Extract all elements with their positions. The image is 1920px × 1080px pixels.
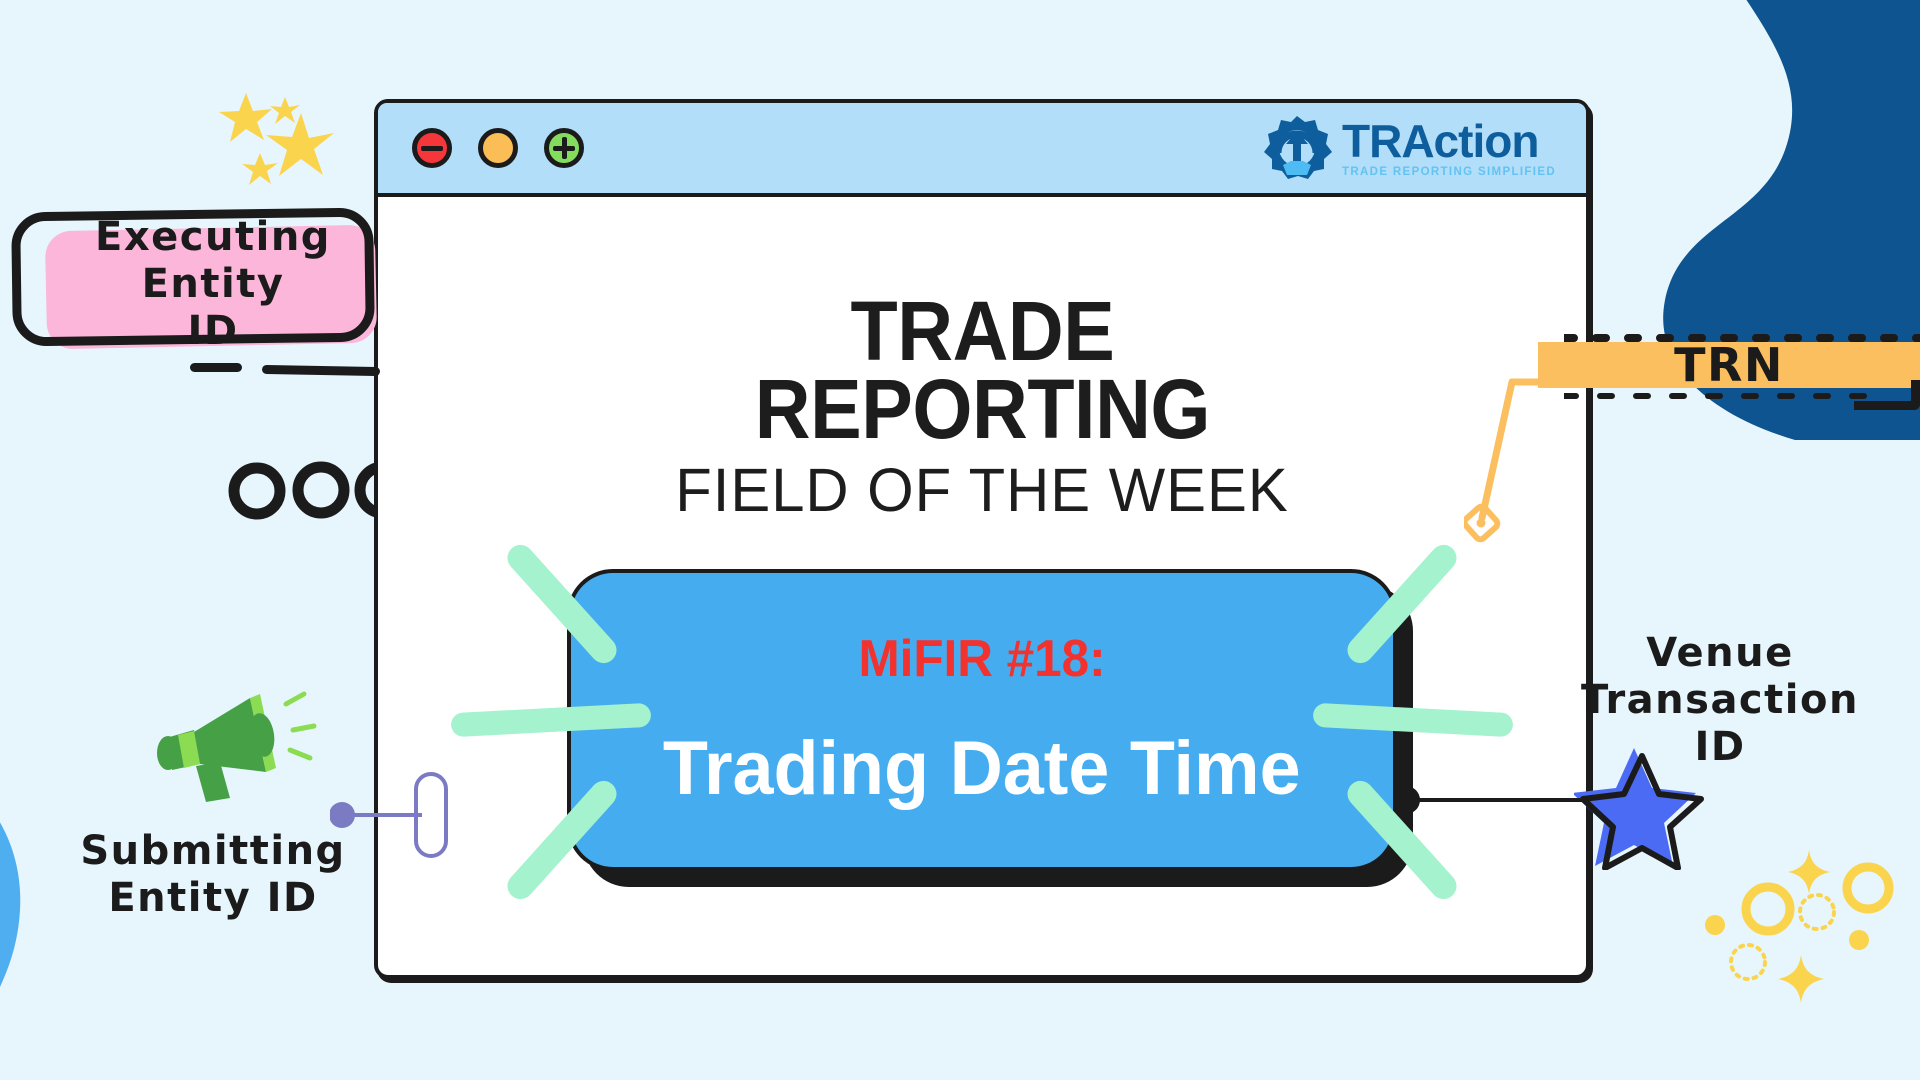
window-content: TRADE REPORTING FIELD OF THE WEEK MiFIR … [378, 197, 1586, 975]
page-title-line2: REPORTING [754, 370, 1209, 449]
featured-field-card-wrapper: MiFIR #18: Trading Date Time [567, 569, 1397, 871]
submitting-entity-id-label: Submitting Entity ID [28, 828, 398, 922]
card-title-label: Trading Date Time [663, 725, 1301, 812]
gear-upload-icon [1261, 115, 1333, 181]
sky-background-blob [0, 700, 400, 1080]
minimize-button[interactable] [412, 128, 452, 168]
pink-highlight-shape [45, 225, 377, 350]
annotation-submitting-entity-id: Submitting Entity ID [28, 680, 408, 960]
underline-dash-short [190, 363, 242, 372]
yellow-sparkles-decoration [1672, 847, 1912, 1022]
annotation-executing-entity-id: Executing Entity ID [0, 196, 400, 376]
megaphone-icon [138, 680, 318, 820]
expand-button[interactable] [544, 128, 584, 168]
maximize-button[interactable] [478, 128, 518, 168]
traffic-light-group [412, 128, 584, 168]
orange-band-shape [1538, 342, 1920, 388]
traction-logo: TRAction TRADE REPORTING SIMPLIFIED [1261, 115, 1556, 181]
window-titlebar: TRAction TRADE REPORTING SIMPLIFIED [378, 103, 1586, 197]
page-title-line1: TRADE [850, 293, 1114, 370]
hand-drawn-outline [11, 207, 375, 346]
black-rings-decoration [228, 455, 393, 527]
logo-tagline: TRADE REPORTING SIMPLIFIED [1342, 167, 1556, 179]
page-subtitle: FIELD OF THE WEEK [675, 455, 1288, 525]
underline-dash-long [262, 365, 380, 376]
card-eyebrow-label: MiFIR #18: [858, 629, 1105, 689]
app-window: TRAction TRADE REPORTING SIMPLIFIED TRAD… [374, 99, 1590, 979]
trn-label: TRN [1538, 338, 1920, 392]
blue-star-icon [1574, 744, 1704, 870]
logo-wordmark: TRAction [1342, 118, 1556, 164]
dotted-line-bottom [1564, 393, 1870, 399]
dotted-line-top [1564, 334, 1920, 342]
navy-background-blob [1560, 0, 1920, 440]
featured-field-card[interactable]: MiFIR #18: Trading Date Time [567, 569, 1397, 871]
corner-bracket [1854, 380, 1920, 410]
executing-entity-id-label: Executing Entity ID [48, 214, 378, 356]
yellow-stars-decoration [208, 85, 358, 195]
